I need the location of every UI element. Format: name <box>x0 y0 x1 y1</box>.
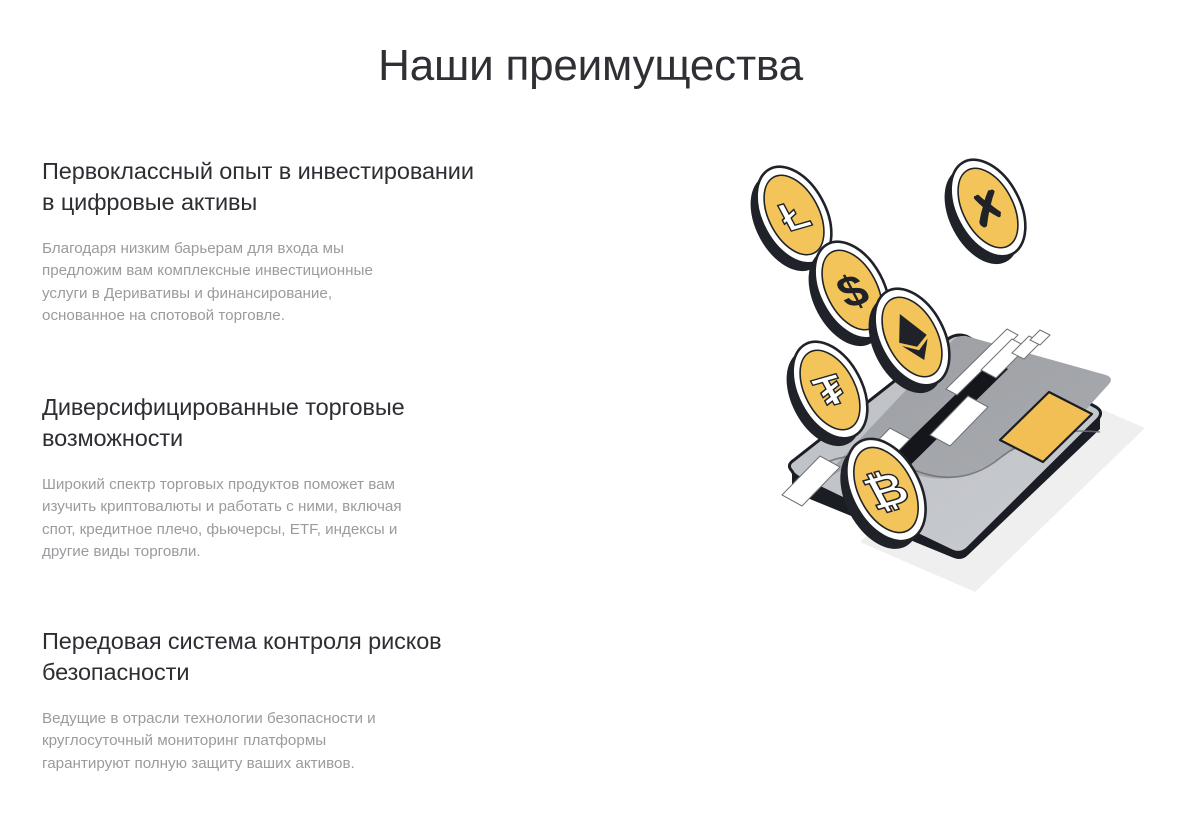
feature-body: Благодаря низким барьерам для входа мы п… <box>42 238 542 327</box>
feature-body: Широкий спектр торговых продуктов поможе… <box>42 474 492 563</box>
illustration-svg: Ł $ ✗ <box>700 140 1170 620</box>
feature-item-3: Передовая система контроля рисков безопа… <box>42 626 512 775</box>
xrp-coin: ✗ <box>927 147 1042 277</box>
feature-heading: Диверсифицированные торговые возможности <box>42 392 492 454</box>
page-title: Наши преимущества <box>0 38 1181 93</box>
advantages-page: Наши преимущества Первоклассный опыт в и… <box>0 0 1181 836</box>
feature-heading: Первоклассный опыт в инвестировании в ци… <box>42 156 542 218</box>
feature-body: Ведущие в отрасли технологии безопасност… <box>42 708 512 775</box>
feature-item-1: Первоклассный опыт в инвестировании в ци… <box>42 156 542 327</box>
feature-item-2: Диверсифицированные торговые возможности… <box>42 392 492 563</box>
feature-heading: Передовая система контроля рисков безопа… <box>42 626 512 688</box>
crypto-coins-and-credit-card-illustration: Ł $ ✗ <box>700 140 1170 620</box>
